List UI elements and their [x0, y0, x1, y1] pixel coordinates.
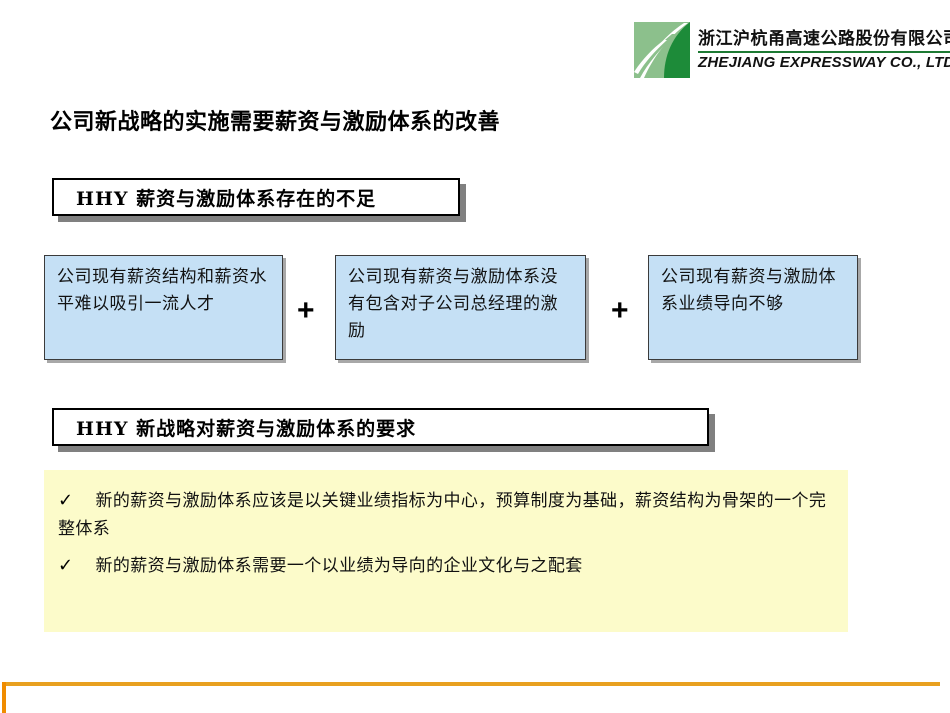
section-header-problems: HHY 薪资与激励体系存在的不足	[52, 178, 460, 216]
section-header-requirements-label: HHY 新战略对薪资与激励体系的要求	[54, 414, 416, 441]
logo-divider	[698, 51, 950, 53]
requirements-panel: ✓新的薪资与激励体系应该是以关键业绩指标为中心，预算制度为基础，薪资结构为骨架的…	[44, 470, 848, 632]
problem-box-text: 公司现有薪资结构和薪资水平难以吸引一流人才	[57, 264, 272, 318]
check-icon: ✓	[58, 490, 73, 511]
logo-text-block: 浙江沪杭甬高速公路股份有限公司 ZHEJIANG EXPRESSWAY CO.,…	[698, 29, 950, 72]
requirement-list-item: ✓新的薪资与激励体系应该是以关键业绩指标为中心，预算制度为基础，薪资结构为骨架的…	[58, 486, 832, 543]
logo-chinese-name: 浙江沪杭甬高速公路股份有限公司	[698, 29, 950, 50]
plus-connector: +	[611, 296, 629, 326]
logo-english-name: ZHEJIANG EXPRESSWAY CO., LTD.	[698, 55, 950, 72]
requirement-text: 新的薪资与激励体系应该是以关键业绩指标为中心，预算制度为基础，薪资结构为骨架的一…	[58, 491, 826, 539]
requirement-text: 新的薪资与激励体系需要一个以业绩为导向的企业文化与之配套	[95, 556, 582, 576]
section-header-problems-label: HHY 薪资与激励体系存在的不足	[54, 184, 376, 211]
problem-box-text: 公司现有薪资与激励体系业绩导向不够	[661, 264, 847, 318]
problem-box: 公司现有薪资结构和薪资水平难以吸引一流人才	[44, 255, 283, 360]
problem-box: 公司现有薪资与激励体系没有包含对子公司总经理的激励	[335, 255, 586, 360]
footer-rule-vertical	[2, 682, 6, 713]
plus-connector: +	[297, 296, 315, 326]
check-icon: ✓	[58, 555, 73, 576]
section-header-requirements: HHY 新战略对薪资与激励体系的要求	[52, 408, 709, 446]
slide-canvas: 浙江沪杭甬高速公路股份有限公司 ZHEJIANG EXPRESSWAY CO.,…	[0, 0, 950, 713]
requirement-list-item: ✓新的薪资与激励体系需要一个以业绩为导向的企业文化与之配套	[58, 551, 832, 581]
problem-box: 公司现有薪资与激励体系业绩导向不够	[648, 255, 858, 360]
company-logo: 浙江沪杭甬高速公路股份有限公司 ZHEJIANG EXPRESSWAY CO.,…	[634, 20, 934, 80]
expressway-road-icon	[634, 22, 690, 78]
page-title: 公司新战略的实施需要薪资与激励体系的改善	[50, 104, 500, 136]
problem-box-text: 公司现有薪资与激励体系没有包含对子公司总经理的激励	[348, 264, 575, 345]
footer-rule-horizontal	[2, 682, 940, 686]
